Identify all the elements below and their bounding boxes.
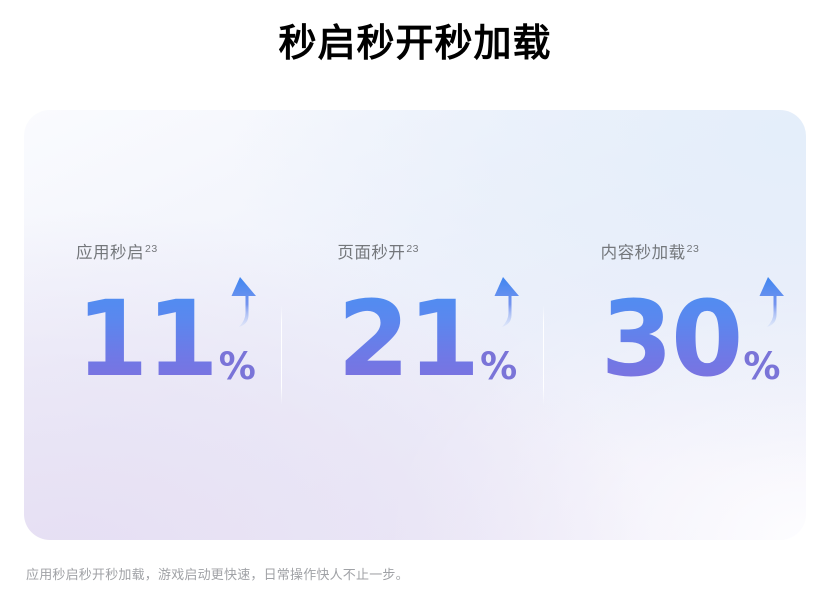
arrow-up-icon <box>748 275 788 329</box>
metric-number: 21 <box>337 287 478 391</box>
metric-label-superscript: 23 <box>687 243 700 255</box>
column-divider <box>281 305 282 405</box>
metrics-card: 应用秒启23 11 % <box>24 110 806 540</box>
metric-number: 30 <box>601 287 742 391</box>
arrow-up-icon <box>220 275 260 329</box>
metric-label: 内容秒加载23 <box>601 243 700 263</box>
metric-label-text: 页面秒开 <box>337 244 405 262</box>
metric-label-superscript: 23 <box>145 243 158 255</box>
metric-percent-symbol: % <box>743 348 780 385</box>
metric-number: 11 <box>76 287 217 391</box>
arrow-up-icon <box>483 275 523 329</box>
metric-value: 21 % <box>337 279 517 391</box>
metric-content-load: 内容秒加载23 30 % <box>543 110 806 540</box>
metric-label: 页面秒开23 <box>337 243 419 263</box>
page-title: 秒启秒开秒加载 <box>0 18 830 70</box>
metric-value: 30 % <box>601 279 781 391</box>
metric-label-superscript: 23 <box>406 243 419 255</box>
metric-page-open: 页面秒开23 21 % <box>281 110 542 540</box>
metric-percent-symbol: % <box>480 348 517 385</box>
column-divider <box>543 305 544 405</box>
metric-label-text: 内容秒加载 <box>601 244 686 262</box>
footnote: 应用秒启秒开秒加载，游戏启动更快速，日常操作快人不止一步。 <box>26 566 409 584</box>
metric-label-text: 应用秒启 <box>76 244 144 262</box>
metric-app-launch: 应用秒启23 11 % <box>24 110 281 540</box>
metric-value: 11 % <box>76 279 256 391</box>
metric-percent-symbol: % <box>219 348 256 385</box>
metrics-row: 应用秒启23 11 % <box>24 110 806 540</box>
metric-label: 应用秒启23 <box>76 243 158 263</box>
